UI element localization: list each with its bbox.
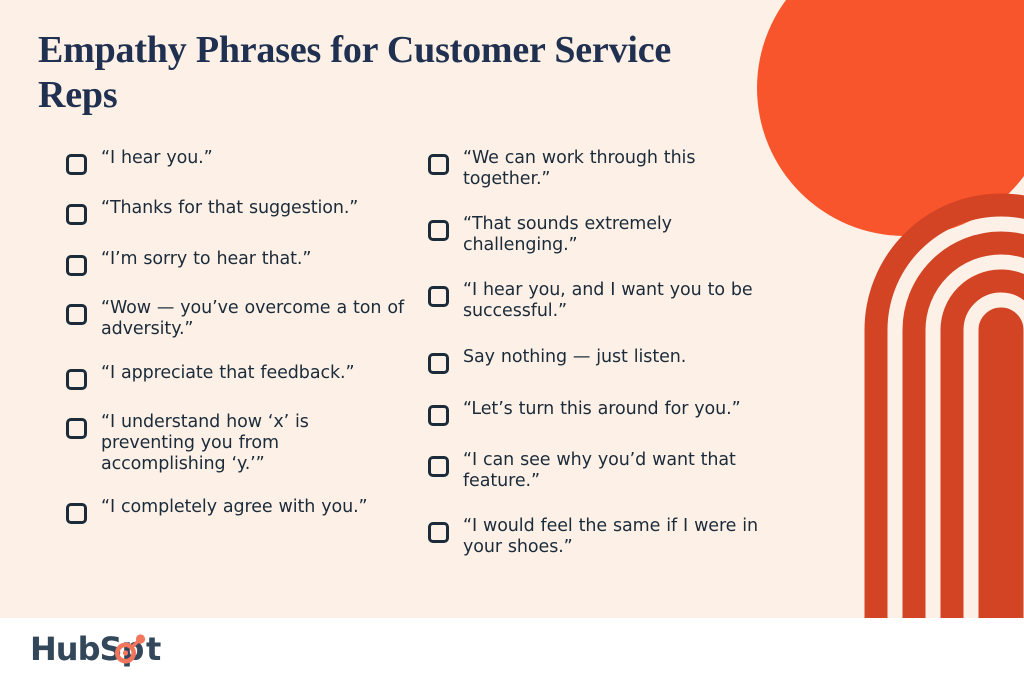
content-panel: Empathy Phrases for Customer Service Rep… [0, 0, 1024, 618]
list-item[interactable]: “I understand how ‘x’ is preventing you … [66, 412, 406, 475]
list-item-label: “We can work through this together.” [463, 148, 773, 190]
list-item-label: “I can see why you’d want that feature.” [463, 450, 773, 492]
list-item[interactable]: “I would feel the same if I were in your… [428, 516, 773, 558]
page-title: Empathy Phrases for Customer Service Rep… [38, 28, 698, 118]
list-item[interactable]: “I can see why you’d want that feature.” [428, 450, 773, 492]
checkbox-icon[interactable] [66, 204, 87, 225]
checklist-column-right: “We can work through this together.” “Th… [428, 148, 773, 558]
orange-arc-rings [876, 205, 1024, 618]
checkbox-icon[interactable] [428, 522, 449, 543]
checkbox-icon[interactable] [428, 154, 449, 175]
sprocket-node-top [136, 634, 145, 643]
list-item[interactable]: “Wow — you’ve overcome a ton of adversit… [66, 298, 406, 340]
list-item[interactable]: “I hear you, and I want you to be succes… [428, 280, 773, 322]
list-item-label: “I hear you.” [101, 148, 213, 169]
list-item-label: “I would feel the same if I were in your… [463, 516, 773, 558]
checkbox-icon[interactable] [66, 418, 87, 439]
infographic-canvas: Empathy Phrases for Customer Service Rep… [0, 0, 1024, 682]
list-item[interactable]: “Let’s turn this around for you.” [428, 399, 773, 426]
list-item[interactable]: “I’m sorry to hear that.” [66, 249, 406, 276]
checkbox-icon[interactable] [66, 304, 87, 325]
checkbox-icon[interactable] [428, 456, 449, 477]
hubspot-logo-text-after: t [146, 630, 161, 668]
list-item-label: Say nothing — just listen. [463, 347, 686, 368]
list-item-label: “That sounds extremely challenging.” [463, 214, 773, 256]
list-item-label: “I understand how ‘x’ is preventing you … [101, 412, 406, 475]
checkbox-icon[interactable] [428, 405, 449, 426]
list-item-label: “I appreciate that feedback.” [101, 363, 354, 384]
list-item[interactable]: “Thanks for that suggestion.” [66, 198, 406, 225]
list-item-label: “Let’s turn this around for you.” [463, 399, 741, 420]
list-item[interactable]: “That sounds extremely challenging.” [428, 214, 773, 256]
list-item[interactable]: Say nothing — just listen. [428, 347, 773, 374]
hubspot-logo[interactable]: HubSp t [30, 628, 190, 672]
checkbox-icon[interactable] [66, 154, 87, 175]
list-item[interactable]: “We can work through this together.” [428, 148, 773, 190]
checkbox-icon[interactable] [428, 353, 449, 374]
footer-bar: HubSp t [0, 618, 1024, 682]
list-item[interactable]: “I hear you.” [66, 148, 406, 175]
checkbox-icon[interactable] [66, 503, 87, 524]
checkbox-icon[interactable] [428, 220, 449, 241]
checkbox-icon[interactable] [428, 286, 449, 307]
checkbox-icon[interactable] [66, 255, 87, 276]
list-item[interactable]: “I completely agree with you.” [66, 497, 406, 524]
checkbox-icon[interactable] [66, 369, 87, 390]
list-item[interactable]: “I appreciate that feedback.” [66, 363, 406, 390]
checklist-column-left: “I hear you.” “Thanks for that suggestio… [66, 148, 406, 524]
list-item-label: “Thanks for that suggestion.” [101, 198, 358, 219]
list-item-label: “I’m sorry to hear that.” [101, 249, 311, 270]
list-item-label: “I hear you, and I want you to be succes… [463, 280, 773, 322]
sprocket-node-inner [123, 650, 128, 655]
list-item-label: “I completely agree with you.” [101, 497, 368, 518]
list-item-label: “Wow — you’ve overcome a ton of adversit… [101, 298, 406, 340]
orange-circle [757, 0, 1024, 236]
